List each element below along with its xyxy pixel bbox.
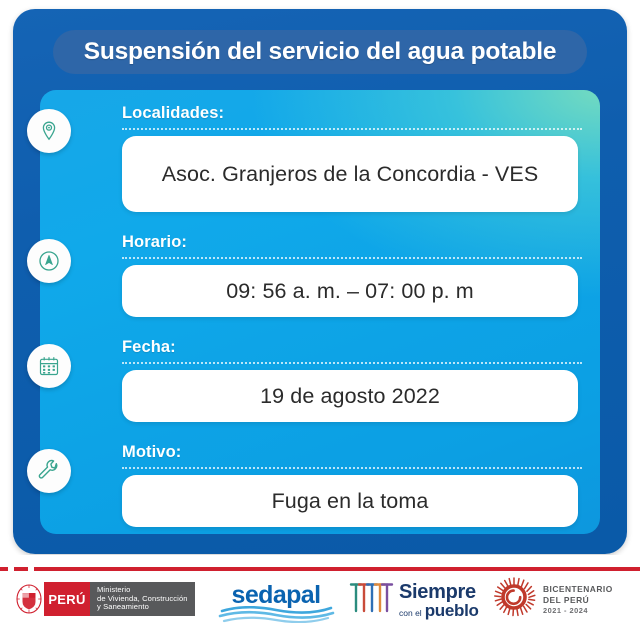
bicentenario-wordmark: BICENTENARIO DEL PERÚ 2021 - 2024 [543,584,613,616]
field-label-localidades: Localidades: [122,104,224,123]
logo-siempre-con-el-pueblo: Siempre con el pueblo [348,580,479,620]
bicentenario-line-3: 2021 - 2024 [543,606,613,616]
field-value-box-fecha: 19 de agosto 2022 [122,370,578,422]
service-suspension-poster: Suspensión del servicio del agua potable… [0,0,640,635]
peru-country-label: PERÚ [44,582,90,616]
location-pin-icon [27,109,71,153]
field-value-box-motivo: Fuga en la toma [122,475,578,527]
field-value-fecha: 19 de agosto 2022 [260,384,440,409]
siempre-line-1: Siempre [399,582,479,602]
footer: PERÚ Ministerio de Vivienda, Construcció… [0,555,640,635]
field-label-horario: Horario: [122,233,187,252]
page-title: Suspensión del servicio del agua potable [84,38,557,66]
ministry-line-3: y Saneamiento [97,603,188,612]
logo-sedapal: sedapal [216,581,336,621]
divider-motivo [122,467,582,469]
field-value-box-localidades: Asoc. Granjeros de la Concordia - VES [122,136,578,212]
siempre-tally-marks-icon [348,581,394,620]
bicentenario-sunburst-icon [492,576,536,625]
field-label-fecha: Fecha: [122,338,176,357]
divider-fecha [122,362,582,364]
details-panel: Localidades: Asoc. Granjeros de la Conco… [40,90,600,534]
siempre-line-2-wrap: con el pueblo [399,602,479,619]
siempre-wordmark: Siempre con el pueblo [399,582,479,619]
field-value-localidades: Asoc. Granjeros de la Concordia - VES [162,162,539,187]
field-value-motivo: Fuga en la toma [272,489,429,514]
divider-localidades [122,128,582,130]
logo-ministerio-vivienda: PERÚ Ministerio de Vivienda, Construcció… [14,582,195,616]
field-value-box-horario: 09: 56 a. m. – 07: 00 p. m [122,265,578,317]
peru-coat-of-arms-icon [14,582,44,616]
calendar-icon [27,344,71,388]
bicentenario-line-2: DEL PERÚ [543,595,613,606]
logo-bicentenario: BICENTENARIO DEL PERÚ 2021 - 2024 [492,578,613,622]
field-label-motivo: Motivo: [122,443,181,462]
clock-icon [27,239,71,283]
sedapal-waves-icon [216,606,336,628]
field-value-horario: 09: 56 a. m. – 07: 00 p. m [226,279,474,304]
wrench-icon [27,449,71,493]
ministry-name: Ministerio de Vivienda, Construcción y S… [90,582,195,616]
footer-red-divider [0,567,640,571]
announcement-card: Suspensión del servicio del agua potable… [13,9,627,554]
siempre-small-text: con el [399,609,422,618]
divider-horario [122,257,582,259]
bicentenario-line-1: BICENTENARIO [543,584,613,595]
poster-title-banner: Suspensión del servicio del agua potable [53,30,587,74]
siempre-pueblo-text: pueblo [425,602,479,619]
footer-logos: PERÚ Ministerio de Vivienda, Construcció… [0,577,640,635]
